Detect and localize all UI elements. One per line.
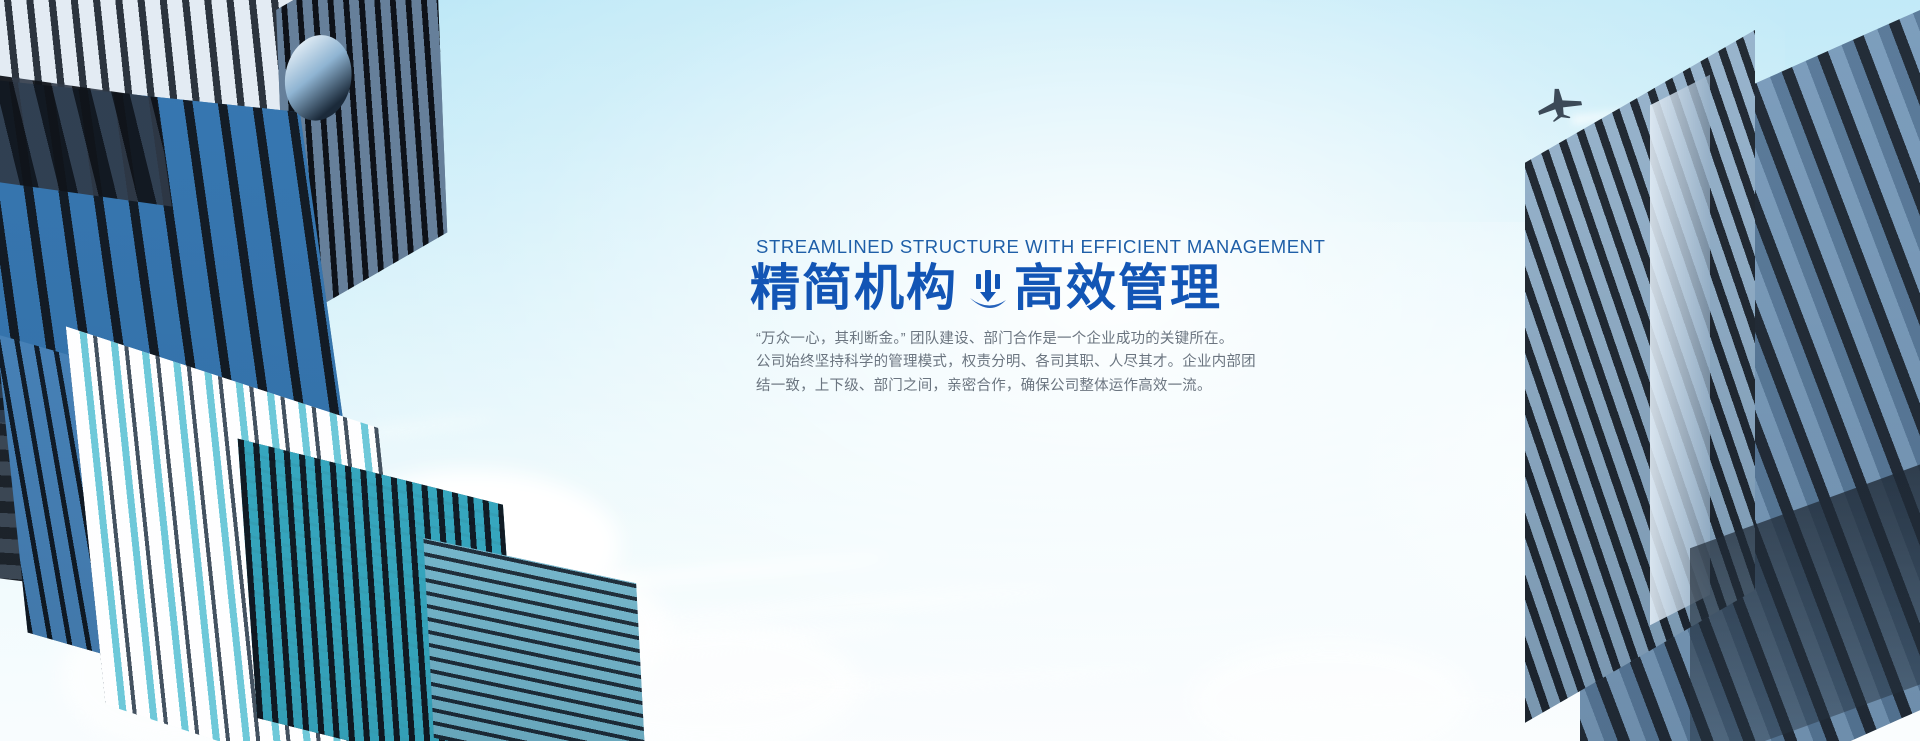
cloud-cirrus [241,412,500,457]
cloud-cirrus [640,585,1060,624]
cloud-cumulus [1190,640,1470,741]
right-green-glass-tower [1640,377,1780,722]
left-stepped-white-tower [0,317,461,741]
cloud-cumulus [560,620,860,741]
left-glass-tower [0,0,470,467]
cloud-cirrus [520,620,899,671]
headline-cn-right: 高效管理 [1014,260,1222,316]
right-steel-tower [1450,0,1920,690]
hero-body-text: “万众一心，其利断金。” 团队建设、部门合作是一个企业成功的关键所在。 公司始终… [756,328,1312,398]
cloud-cirrus [460,682,879,729]
cloud-cirrus [560,552,890,593]
airplane-icon [1533,81,1587,125]
cloud-cumulus [60,600,300,741]
hero-headline: 精简机构 高效管理 [750,260,1312,316]
cloud-cumulus [180,520,440,690]
stylized-arrow-swoosh-icon [968,268,1008,312]
center-low-block [425,554,665,741]
cloud-cumulus [430,560,670,700]
body-line: 结一致，上下级、部门之间，亲密合作，确保公司整体运作高效一流。 [756,375,1312,398]
body-line: 公司始终坚持科学的管理模式，权责分明、各司其职、人尽其才。企业内部团 [756,351,1312,374]
hero-eyebrow-english: STREAMLINED STRUCTURE WITH EFFICIENT MAN… [756,236,1312,258]
cloud-cirrus [700,664,1160,700]
center-glass-block [241,460,560,741]
cloud-cirrus [1240,695,1540,714]
hero-text-block: STREAMLINED STRUCTURE WITH EFFICIENT MAN… [752,236,1312,398]
body-line: “万众一心，其利断金。” 团队建设、部门合作是一个企业成功的关键所在。 [756,328,1312,351]
cloud-cumulus [320,470,620,620]
tower-porthole [278,30,358,126]
hero-banner: STREAMLINED STRUCTURE WITH EFFICIENT MAN… [0,0,1920,741]
contrail [1571,98,1721,125]
headline-cn-left: 精简机构 [750,260,958,316]
